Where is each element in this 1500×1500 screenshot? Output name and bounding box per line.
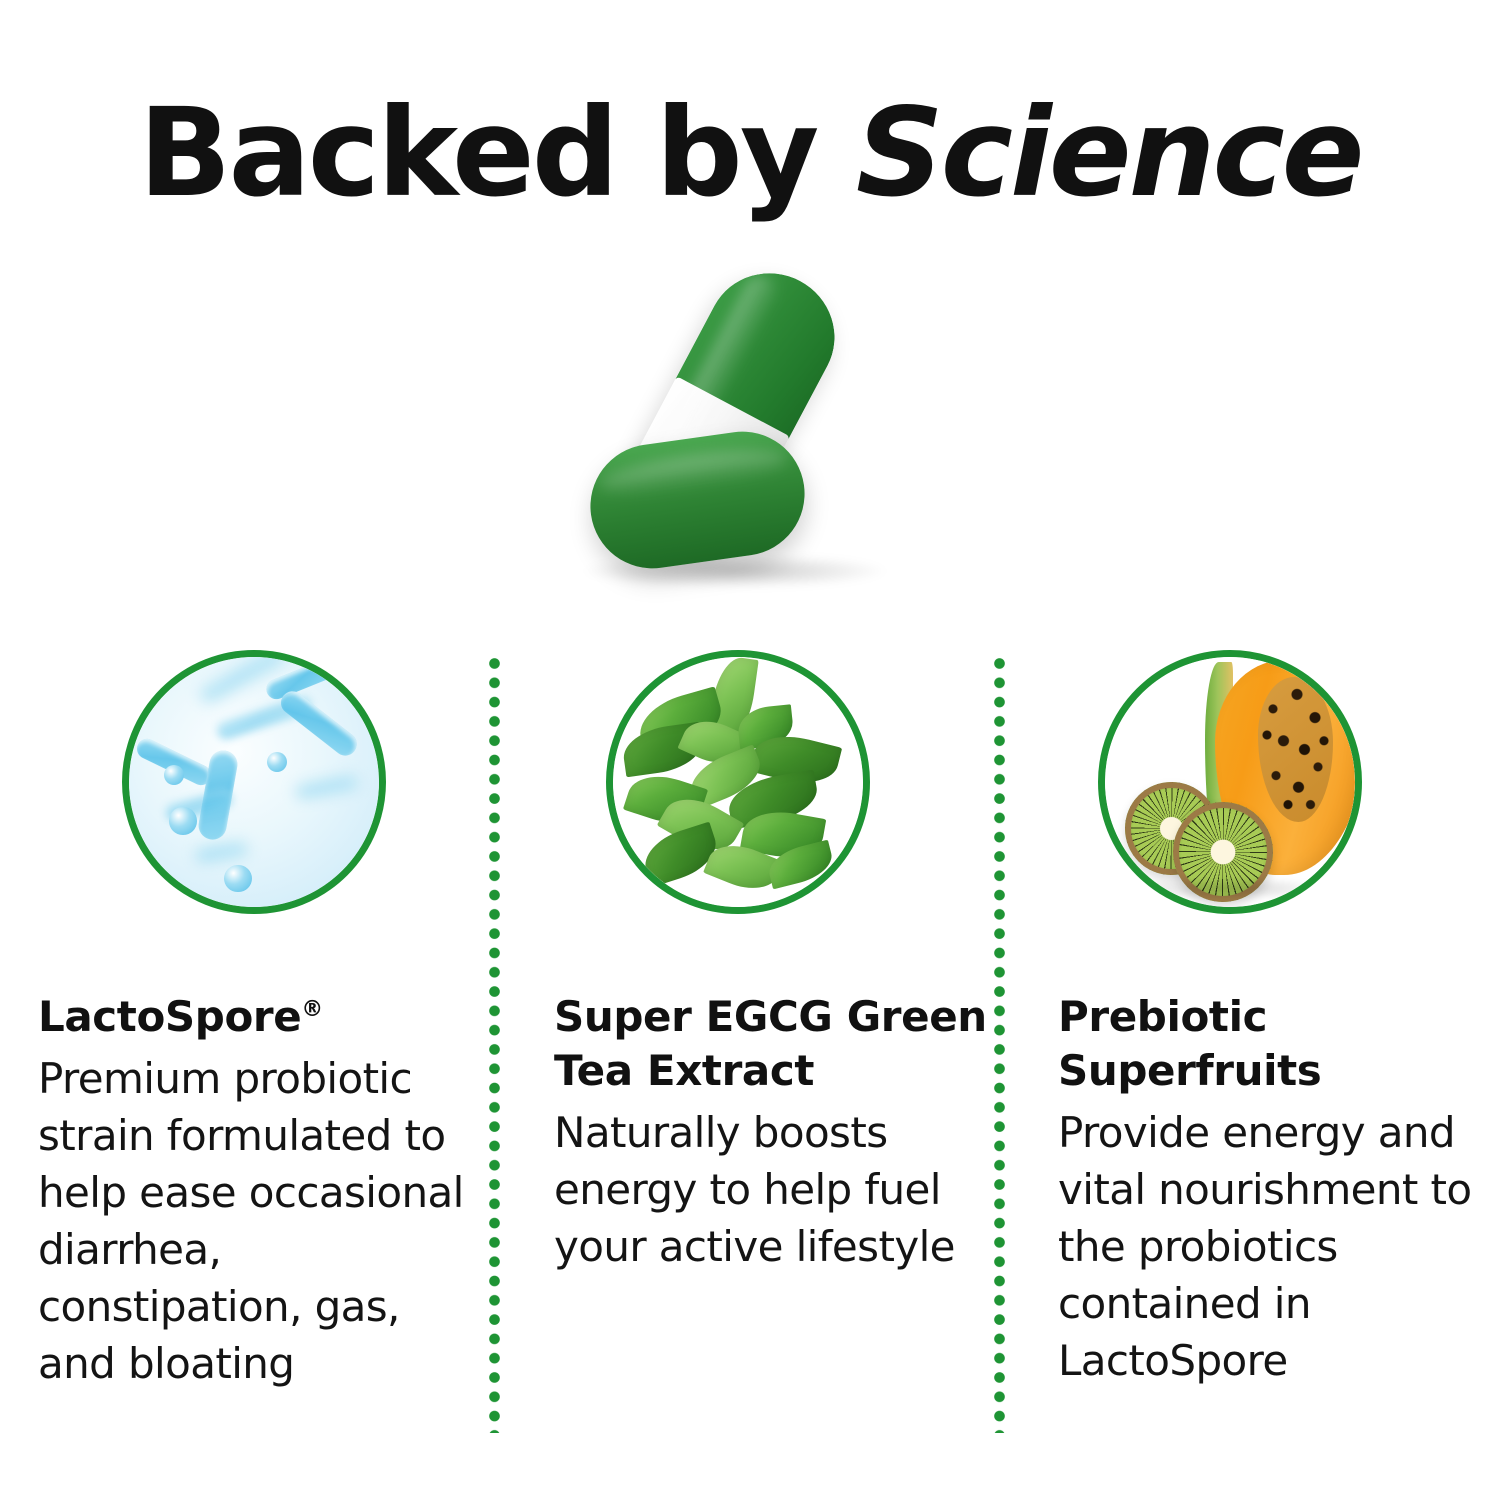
green-tea-icon-art <box>613 657 863 907</box>
bacteria-rod <box>193 838 250 863</box>
superfruits-icon-art <box>1105 657 1355 907</box>
bacteria-spore <box>164 765 184 785</box>
page-title-space <box>816 82 855 224</box>
fruit-group <box>1105 657 1355 907</box>
bacteria-microscope-icon <box>122 650 386 914</box>
feature-heading-text: LactoSpore <box>38 992 301 1041</box>
bacteria-spore <box>169 807 197 835</box>
feature-body: Provide energy and vital nourishment to … <box>1058 1104 1488 1389</box>
microscope-field <box>129 657 379 907</box>
bacteria-rod <box>293 771 360 800</box>
feature-heading: Super EGCG Green Tea Extract <box>554 990 1001 1098</box>
bacteria-icon-art <box>129 657 379 907</box>
capsule-front-highlight <box>598 443 790 501</box>
page-title-emphasis: Science <box>856 82 1362 224</box>
feature-heading: Prebiotic Superfruits <box>1058 990 1500 1098</box>
feature-column-egcg: Super EGCG Green Tea Extract Naturally b… <box>546 650 1001 1275</box>
hero-capsule-image <box>560 258 960 618</box>
feature-heading: LactoSpore® <box>38 990 489 1044</box>
tea-leaf-cluster <box>613 657 863 907</box>
page-title: Backed by Science <box>0 82 1500 224</box>
feature-body: Premium probiotic strain formulated to h… <box>38 1050 468 1392</box>
registered-trademark-icon: ® <box>301 997 322 1022</box>
feature-text-egcg: Super EGCG Green Tea Extract Naturally b… <box>554 990 1001 1275</box>
feature-body: Naturally boosts energy to help fuel you… <box>554 1104 984 1275</box>
feature-column-lactospore: LactoSpore® Premium probiotic strain for… <box>34 650 489 1392</box>
fruit-drop-shadow <box>1130 877 1325 900</box>
green-tea-leaves-icon <box>606 650 870 914</box>
feature-text-lactospore: LactoSpore® Premium probiotic strain for… <box>38 990 489 1392</box>
feature-columns: LactoSpore® Premium probiotic strain for… <box>0 650 1500 1470</box>
feature-column-superfruits: Prebiotic Superfruits Provide energy and… <box>1053 650 1500 1389</box>
bacteria-rod <box>277 687 362 760</box>
page-title-plain: Backed by <box>138 82 816 224</box>
feature-text-superfruits: Prebiotic Superfruits Provide energy and… <box>1058 990 1500 1389</box>
bacteria-spore <box>224 865 252 893</box>
papaya-kiwi-superfruits-icon <box>1098 650 1362 914</box>
bacteria-spore <box>267 752 287 772</box>
